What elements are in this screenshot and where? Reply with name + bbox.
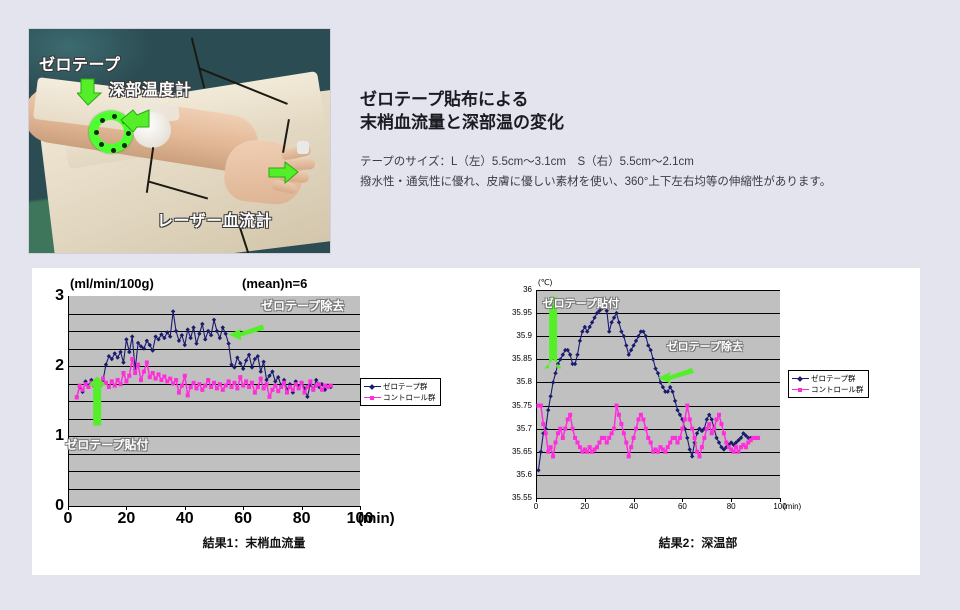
gridline (68, 454, 360, 455)
x-axis-tick-mark (634, 498, 635, 502)
legend-item[interactable]: ゼロテープ群 (792, 373, 864, 384)
gridline (536, 406, 780, 407)
y-axis-tick-label: 35.65 (472, 447, 532, 456)
plot-area (68, 296, 360, 506)
gridline (68, 471, 360, 472)
gridline (536, 359, 780, 360)
legend-marker-control-icon (792, 389, 809, 390)
legend-marker-tape-icon (364, 386, 381, 387)
x-axis (536, 498, 780, 499)
arrow-to-zero-tape-icon (77, 77, 107, 107)
x-axis-tick-mark (731, 498, 732, 502)
y-axis-tick-label: 35.8 (472, 377, 532, 386)
y-axis-tick-label: 35.75 (472, 401, 532, 410)
x-axis-tick-label: 20 (100, 510, 152, 528)
gridline (68, 331, 360, 332)
gridline (68, 401, 360, 402)
chart-peripheral-blood-flow: 0123020406080100(min)(ml/min/100g)(mean)… (32, 268, 476, 575)
legend-label: ゼロテープ群 (383, 382, 428, 391)
legend-item[interactable]: コントロール群 (792, 384, 864, 395)
y-axis-unit-label: (ml/min/100g) (70, 276, 154, 291)
y-axis-tick-label: 2 (4, 357, 64, 375)
annotation-tape-applied: ゼロテープ貼付 (65, 436, 148, 453)
page-title: ゼロテープ貼布による 末梢血流量と深部温の変化 (360, 88, 564, 134)
chart-caption: 結果1：末梢血流量 (32, 534, 476, 551)
x-axis-unit-label: (min) (783, 502, 801, 511)
x-axis-tick-label: 40 (608, 502, 660, 511)
x-axis-tick-mark (302, 506, 303, 510)
gridline (536, 475, 780, 476)
legend-item[interactable]: コントロール群 (364, 392, 436, 403)
y-axis (536, 290, 537, 498)
y-axis-tick-label: 35.95 (472, 308, 532, 317)
legend-label: コントロール群 (383, 393, 436, 402)
gridline (536, 313, 780, 314)
x-axis-tick-label: 80 (705, 502, 757, 511)
x-axis-tick-label: 40 (159, 510, 211, 528)
legend-label: ゼロテープ群 (811, 374, 856, 383)
y-axis-tick-label: 35.7 (472, 424, 532, 433)
y-axis-tick-label: 1 (4, 427, 64, 445)
x-axis-tick-mark (585, 498, 586, 502)
gridline (536, 382, 780, 383)
title-line-1: ゼロテープ貼布による (360, 88, 564, 111)
gridline (68, 489, 360, 490)
gridline (536, 452, 780, 453)
gridline (536, 429, 780, 430)
plot-area (536, 290, 780, 498)
annotation-tape-applied: ゼロテープ貼付 (543, 295, 619, 311)
legend-marker-control-icon (364, 397, 381, 398)
annotation-tape-removed: ゼロテープ除去 (667, 338, 743, 354)
y-axis-tick-label: 35.55 (472, 493, 532, 502)
x-axis-tick-mark (682, 498, 683, 502)
page-subtitle: テープのサイズ：L（左）5.5cm〜3.1cm S（右）5.5cm〜2.1cm … (360, 152, 831, 192)
gridline (68, 349, 360, 350)
x-axis-tick-mark (126, 506, 127, 510)
x-axis-tick-mark (780, 498, 781, 502)
y-axis-unit-label: (℃) (538, 278, 552, 287)
sample-size-label: (mean)n=6 (242, 276, 307, 291)
y-axis-tick-label: 35.85 (472, 354, 532, 363)
legend-label: コントロール群 (811, 385, 864, 394)
laser-flow-sensor (297, 141, 309, 154)
x-axis-unit-label: (min) (358, 510, 395, 527)
gridline (68, 419, 360, 420)
photo-caption-deep-thermometer: 深部温度計 (109, 76, 192, 100)
x-axis-tick-mark (536, 498, 537, 502)
x-axis-tick-mark (243, 506, 244, 510)
y-axis-tick-label: 3 (4, 287, 64, 305)
chart-legend: ゼロテープ群コントロール群 (788, 370, 869, 398)
chart-legend: ゼロテープ群コントロール群 (360, 378, 441, 406)
x-axis-tick-label: 60 (656, 502, 708, 511)
photo-caption-laser-flowmeter: レーザー血流計 (157, 207, 272, 231)
y-axis-tick-label: 35.6 (472, 470, 532, 479)
y-axis-tick-label: 36 (472, 285, 532, 294)
gridline (536, 290, 780, 291)
experiment-photo: ゼロテープ 深部温度計 レーザー血流計 (29, 29, 330, 253)
y-axis-tick-label: 35.9 (472, 331, 532, 340)
photo-caption-zero-tape: ゼロテープ (39, 51, 121, 75)
annotation-tape-removed: ゼロテープ除去 (261, 297, 344, 314)
title-line-2: 末梢血流量と深部温の変化 (360, 111, 564, 134)
x-axis-tick-label: 0 (510, 502, 562, 511)
subtitle-line-1: テープのサイズ：L（左）5.5cm〜3.1cm S（右）5.5cm〜2.1cm (360, 152, 831, 172)
y-axis (68, 296, 69, 506)
legend-marker-tape-icon (792, 378, 809, 379)
legend-item[interactable]: ゼロテープ群 (364, 381, 436, 392)
x-axis-tick-label: 20 (559, 502, 611, 511)
gridline (68, 366, 360, 367)
x-axis-tick-label: 80 (276, 510, 328, 528)
results-panel: 0123020406080100(min)(ml/min/100g)(mean)… (32, 268, 920, 575)
chart-deep-body-temperature: 35.5535.635.6535.735.7535.835.8535.935.9… (476, 268, 920, 575)
chart-caption: 結果2：深温部 (476, 534, 920, 551)
arrow-to-laser-icon (267, 161, 299, 185)
x-axis-tick-mark (68, 506, 69, 510)
arrow-to-probe-icon (119, 107, 151, 133)
x-axis-tick-label: 0 (42, 510, 94, 528)
gridline (536, 336, 780, 337)
x-axis-tick-label: 60 (217, 510, 269, 528)
subtitle-line-2: 撥水性・通気性に優れ、皮膚に優しい素材を使い、360°上下左右均等の伸縮性があり… (360, 172, 831, 192)
x-axis-tick-mark (185, 506, 186, 510)
gridline (68, 384, 360, 385)
x-axis (68, 506, 360, 507)
